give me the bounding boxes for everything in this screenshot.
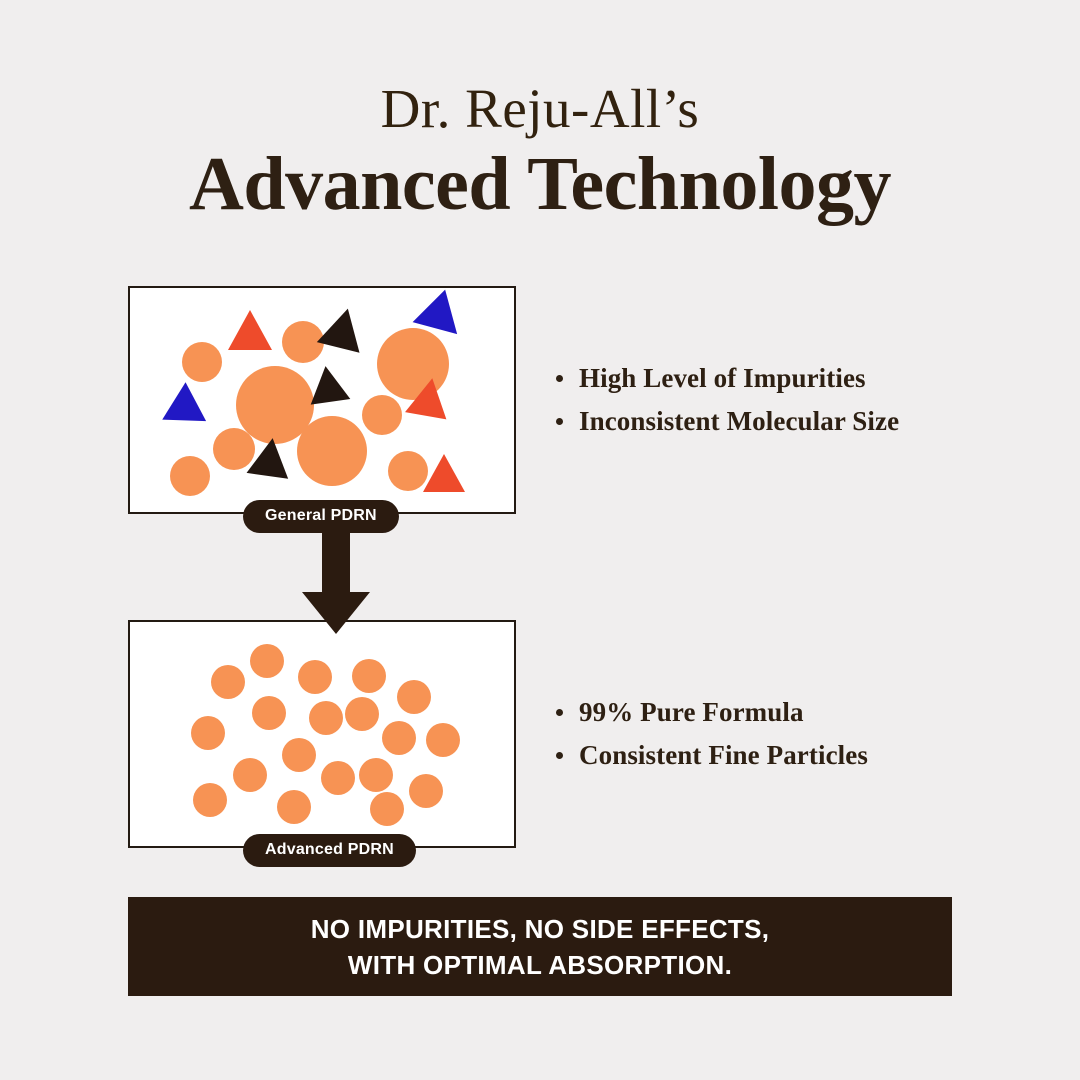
- molecule-circle: [182, 342, 222, 382]
- molecule-circle: [191, 716, 225, 750]
- molecule-circle: [359, 758, 393, 792]
- list-item: Consistent Fine Particles: [556, 740, 868, 770]
- molecule-circle: [388, 451, 428, 491]
- impurity-triangle-black: [247, 435, 294, 478]
- bullet-label: Inconsistent Molecular Size: [579, 406, 899, 436]
- molecule-circle: [170, 456, 210, 496]
- bullet-label: High Level of Impurities: [579, 363, 866, 393]
- bullet-dot-icon: [556, 709, 563, 716]
- banner-line-two: WITH OPTIMAL ABSORPTION.: [348, 947, 732, 983]
- panel-label-advanced-pdrn: Advanced PDRN: [243, 834, 416, 867]
- bullet-label: Consistent Fine Particles: [579, 740, 868, 770]
- list-item: Inconsistent Molecular Size: [556, 406, 899, 436]
- page-title: Dr. Reju-All’s Advanced Technology: [0, 78, 1080, 226]
- molecule-circle: [370, 792, 404, 826]
- bullet-list-general: High Level of Impurities Inconsistent Mo…: [556, 363, 899, 449]
- panel-general-shapes: [130, 288, 514, 512]
- molecule-circle: [397, 680, 431, 714]
- list-item: 99% Pure Formula: [556, 697, 868, 727]
- panel-advanced-shapes: [130, 622, 514, 846]
- molecule-circle: [277, 790, 311, 824]
- molecule-circle: [282, 738, 316, 772]
- molecule-circle: [193, 783, 227, 817]
- panel-general-pdrn: [128, 286, 516, 514]
- bullet-dot-icon: [556, 375, 563, 382]
- molecule-circle: [250, 644, 284, 678]
- bullet-dot-icon: [556, 418, 563, 425]
- molecule-circle: [297, 416, 367, 486]
- impurity-triangle-blue: [162, 382, 218, 439]
- bullet-dot-icon: [556, 752, 563, 759]
- molecule-circle: [352, 659, 386, 693]
- molecule-circle: [309, 701, 343, 735]
- molecule-circle: [382, 721, 416, 755]
- bullet-list-advanced: 99% Pure Formula Consistent Fine Particl…: [556, 697, 868, 783]
- impurity-triangle-black: [306, 363, 351, 404]
- infographic-root: Dr. Reju-All’s Advanced Technology Gener…: [0, 0, 1080, 1080]
- molecule-circle: [252, 696, 286, 730]
- list-item: High Level of Impurities: [556, 363, 899, 393]
- bottom-banner: NO IMPURITIES, NO SIDE EFFECTS, WITH OPT…: [128, 897, 952, 996]
- panel-advanced-pdrn: [128, 620, 516, 848]
- impurity-triangle-black: [317, 303, 369, 352]
- molecule-circle: [298, 660, 332, 694]
- molecule-circle: [211, 665, 245, 699]
- molecule-circle: [426, 723, 460, 757]
- molecule-circle: [362, 395, 402, 435]
- molecule-circle: [345, 697, 379, 731]
- molecule-circle: [409, 774, 443, 808]
- impurity-triangle-red: [405, 375, 453, 420]
- banner-line-one: NO IMPURITIES, NO SIDE EFFECTS,: [311, 911, 770, 947]
- panel-label-general-pdrn: General PDRN: [243, 500, 399, 533]
- molecule-circle: [233, 758, 267, 792]
- bullet-label: 99% Pure Formula: [579, 697, 804, 727]
- molecule-circle: [321, 761, 355, 795]
- title-line-two: Advanced Technology: [0, 142, 1080, 226]
- down-arrow-icon: [300, 530, 372, 634]
- title-line-one: Dr. Reju-All’s: [0, 78, 1080, 140]
- impurity-triangle-red: [423, 454, 465, 492]
- impurity-triangle-red: [228, 310, 272, 350]
